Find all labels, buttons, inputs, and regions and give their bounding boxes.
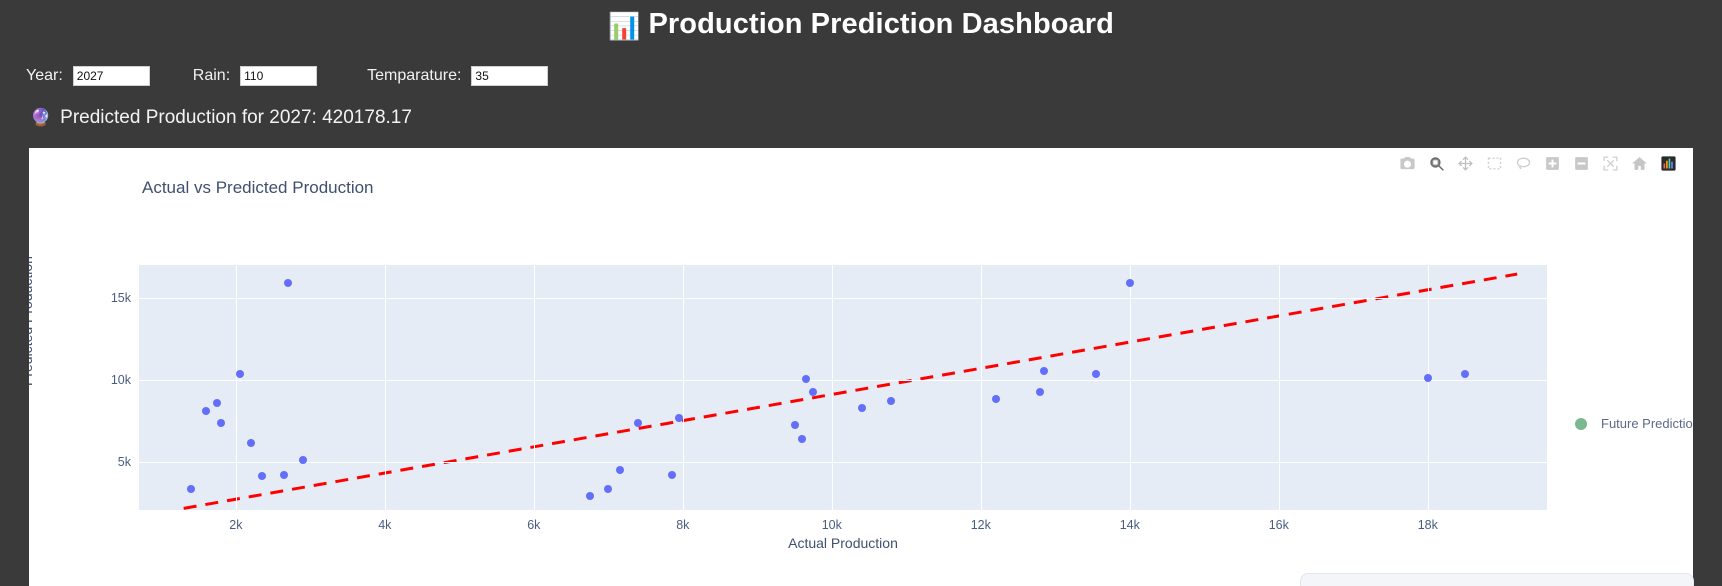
year-input[interactable] <box>73 66 150 86</box>
x-tick-label: 14k <box>1120 518 1140 532</box>
zoom-out-icon[interactable] <box>1572 154 1590 172</box>
dashboard-root: 📊Production Prediction Dashboard Year: R… <box>0 0 1722 586</box>
x-tick-mark <box>385 512 386 517</box>
rain-input[interactable] <box>240 66 317 86</box>
scatter-point[interactable] <box>217 419 225 427</box>
x-tick-label: 2k <box>229 518 242 532</box>
box-select-icon[interactable] <box>1485 154 1503 172</box>
x-tick-mark <box>1130 512 1131 517</box>
plotly-logo-icon[interactable] <box>1659 154 1677 172</box>
x-tick-label: 18k <box>1418 518 1438 532</box>
page-title: 📊Production Prediction Dashboard <box>0 8 1722 42</box>
reset-axes-home-icon[interactable] <box>1630 154 1648 172</box>
y-axis-ticks: 5k10k15k <box>77 265 139 510</box>
x-tick-mark <box>1428 512 1429 517</box>
zoom-magnifier-icon[interactable] <box>1427 154 1445 172</box>
lasso-select-icon[interactable] <box>1514 154 1532 172</box>
scatter-point[interactable] <box>992 395 1000 403</box>
gridline-horizontal <box>139 462 1547 463</box>
rain-label: Rain: <box>193 67 230 85</box>
scatter-point[interactable] <box>616 466 624 474</box>
temperature-label: Temparature: <box>367 67 461 85</box>
rain-control: Rain: <box>193 66 317 86</box>
page-title-text: Production Prediction Dashboard <box>648 8 1114 40</box>
x-tick-label: 10k <box>822 518 842 532</box>
scatter-point[interactable] <box>586 492 594 500</box>
gridline-vertical <box>981 265 982 510</box>
x-tick-mark <box>832 512 833 517</box>
trendline <box>139 265 1547 510</box>
y-tick-label: 15k <box>111 291 139 305</box>
controls-row: Year: Rain: Temparature: <box>26 66 548 86</box>
plot-area[interactable] <box>139 265 1547 510</box>
y-axis-label: Predicted Production <box>29 256 35 386</box>
download-camera-icon[interactable] <box>1398 154 1416 172</box>
gridline-vertical <box>534 265 535 510</box>
x-axis-ticks: 2k4k6k8k10k12k14k16k18k <box>139 512 1547 534</box>
x-tick-label: 8k <box>676 518 689 532</box>
x-tick-label: 4k <box>378 518 391 532</box>
autoscale-icon[interactable] <box>1601 154 1619 172</box>
gridline-vertical <box>236 265 237 510</box>
y-tick-label: 10k <box>111 373 139 387</box>
gridline-vertical <box>683 265 684 510</box>
year-control: Year: <box>26 66 150 86</box>
gridline-vertical <box>385 265 386 510</box>
scatter-point[interactable] <box>1126 279 1134 287</box>
legend-marker-future-prediction <box>1575 418 1587 430</box>
gridline-vertical <box>832 265 833 510</box>
gridline-vertical <box>1428 265 1429 510</box>
pan-move-icon[interactable] <box>1456 154 1474 172</box>
temperature-input[interactable] <box>471 66 548 86</box>
chart-title: Actual vs Predicted Production <box>142 178 374 198</box>
x-tick-mark <box>534 512 535 517</box>
gridline-horizontal <box>139 380 1547 381</box>
crystal-ball-emoji: 🔮 <box>30 108 51 128</box>
x-tick-label: 12k <box>971 518 991 532</box>
scatter-point[interactable] <box>187 485 195 493</box>
scatter-point[interactable] <box>236 370 244 378</box>
scatter-point[interactable] <box>802 375 810 383</box>
scatter-point[interactable] <box>634 419 642 427</box>
scatter-point[interactable] <box>675 414 683 422</box>
scatter-point[interactable] <box>809 388 817 396</box>
bottom-partial-panel <box>1300 573 1694 586</box>
gridline-horizontal <box>139 298 1547 299</box>
chart-legend[interactable]: Future Prediction <box>1575 416 1693 431</box>
plotly-modebar <box>1398 152 1677 174</box>
scatter-point[interactable] <box>1424 374 1432 382</box>
chart-card: Actual vs Predicted Production Predicted… <box>29 148 1693 586</box>
scatter-point[interactable] <box>1461 370 1469 378</box>
x-tick-mark <box>1279 512 1280 517</box>
legend-label-future-prediction: Future Prediction <box>1601 416 1693 431</box>
prediction-output: 🔮 Predicted Production for 2027: 420178.… <box>30 107 412 129</box>
gridline-vertical <box>1279 265 1280 510</box>
scatter-point[interactable] <box>604 485 612 493</box>
x-tick-mark <box>981 512 982 517</box>
temperature-control: Temparature: <box>367 66 548 86</box>
scatter-point[interactable] <box>858 404 866 412</box>
scatter-point[interactable] <box>299 456 307 464</box>
zoom-in-icon[interactable] <box>1543 154 1561 172</box>
x-tick-mark <box>236 512 237 517</box>
y-tick-label: 5k <box>118 455 139 469</box>
bar-chart-emoji: 📊 <box>608 11 640 41</box>
prediction-text: Predicted Production for 2027: 420178.17 <box>60 107 412 129</box>
x-axis-label: Actual Production <box>139 535 1547 551</box>
gridline-vertical <box>1130 265 1131 510</box>
x-tick-label: 6k <box>527 518 540 532</box>
x-tick-label: 16k <box>1269 518 1289 532</box>
year-label: Year: <box>26 67 63 85</box>
x-tick-mark <box>683 512 684 517</box>
scatter-point[interactable] <box>668 471 676 479</box>
scatter-point[interactable] <box>791 421 799 429</box>
